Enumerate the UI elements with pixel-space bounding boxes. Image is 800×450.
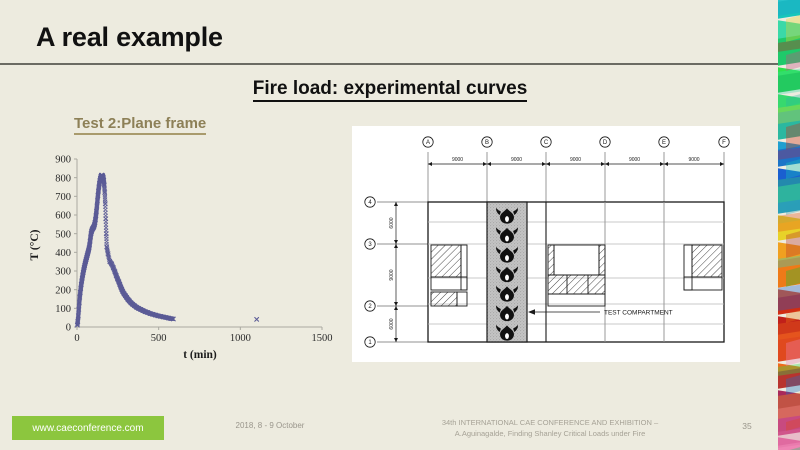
svg-text:9000: 9000 xyxy=(452,157,463,163)
chart-ylabel: T (°C) xyxy=(29,229,41,260)
svg-text:1500: 1500 xyxy=(312,333,333,344)
footer-conference-line2: A.Aguinagalde, Finding Shanley Critical … xyxy=(395,428,705,439)
chart-y-ticks: 0100200300400500600700800900 xyxy=(55,155,77,334)
slide-subtitle-text: Fire load: experimental curves xyxy=(253,78,528,102)
test-compartment-fire-strip xyxy=(487,202,527,342)
chart-axes xyxy=(77,159,322,327)
footer-date: 2018, 8 - 9 October xyxy=(200,421,340,430)
section-label: Test 2:Plane frame xyxy=(74,115,206,132)
svg-text:100: 100 xyxy=(55,304,71,315)
temperature-time-chart: 0100200300400500600700800900 05001000150… xyxy=(22,145,342,365)
footer-conference-info: 34th INTERNATIONAL CAE CONFERENCE AND EX… xyxy=(395,417,705,440)
website-badge-text: www.caeconference.com xyxy=(32,423,143,434)
svg-text:700: 700 xyxy=(55,192,71,203)
svg-text:600: 600 xyxy=(55,211,71,222)
svg-text:A: A xyxy=(426,140,430,146)
svg-text:6000: 6000 xyxy=(389,217,395,228)
test-compartment-label: TEST COMPARTMENT xyxy=(604,310,673,317)
svg-text:9000: 9000 xyxy=(511,157,522,163)
section-label-text: Test 2:Plane frame xyxy=(74,115,206,135)
svg-text:500: 500 xyxy=(55,229,71,240)
page-title: A real example xyxy=(36,22,223,53)
svg-text:B: B xyxy=(485,140,489,146)
svg-text:6000: 6000 xyxy=(389,318,395,329)
svg-text:9000: 9000 xyxy=(389,269,395,280)
chart-xlabel: t (min) xyxy=(183,349,217,361)
floor-plan-diagram: ABCDEF 90009000900090009000 4321 6000900… xyxy=(352,126,740,362)
svg-text:0: 0 xyxy=(74,333,79,344)
color-strip-svg xyxy=(778,0,800,450)
chart-x-ticks: 050010001500 xyxy=(74,327,332,344)
svg-text:200: 200 xyxy=(55,285,71,296)
chart-svg: 0100200300400500600700800900 05001000150… xyxy=(22,145,342,365)
svg-text:F: F xyxy=(722,140,726,146)
svg-text:500: 500 xyxy=(151,333,167,344)
svg-text:9000: 9000 xyxy=(688,157,699,163)
svg-text:0: 0 xyxy=(66,323,71,334)
slide-root: A real example Fire load: experimental c… xyxy=(0,0,800,450)
svg-text:1000: 1000 xyxy=(230,333,251,344)
svg-text:9000: 9000 xyxy=(629,157,640,163)
decorative-color-strip xyxy=(778,0,800,450)
svg-text:900: 900 xyxy=(55,155,71,166)
svg-text:300: 300 xyxy=(55,267,71,278)
slide-subtitle: Fire load: experimental curves xyxy=(0,78,780,100)
page-number: 35 xyxy=(735,421,759,431)
svg-text:800: 800 xyxy=(55,173,71,184)
svg-text:E: E xyxy=(662,140,666,146)
svg-text:400: 400 xyxy=(55,248,71,259)
svg-text:C: C xyxy=(544,140,549,146)
svg-text:9000: 9000 xyxy=(570,157,581,163)
chart-data-points xyxy=(75,173,258,327)
svg-text:D: D xyxy=(603,140,608,146)
title-divider xyxy=(0,63,782,65)
floor-plan-svg: ABCDEF 90009000900090009000 4321 6000900… xyxy=(352,126,740,362)
footer-conference-line1: 34th INTERNATIONAL CAE CONFERENCE AND EX… xyxy=(395,417,705,428)
website-badge[interactable]: www.caeconference.com xyxy=(12,416,164,440)
